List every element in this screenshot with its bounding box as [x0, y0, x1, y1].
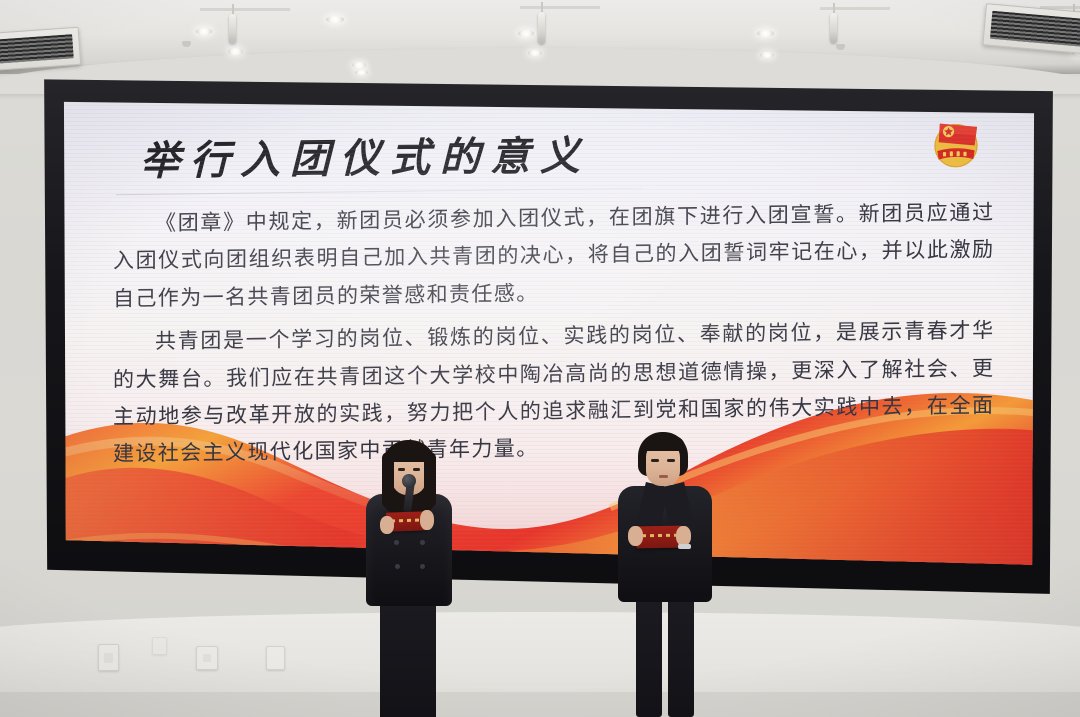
communist-youth-league-emblem	[925, 111, 987, 174]
mouth	[659, 475, 668, 478]
photo-scene: 举行入团仪式的意义 《团章》中规定，新团员必须参加入团仪式，在团旗下进行入团宣誓…	[0, 0, 1080, 717]
host-female-skirt	[380, 588, 436, 717]
microphone-head	[402, 474, 416, 488]
led-display: 举行入团仪式的意义 《团章》中规定，新团员必须参加入团仪式，在团旗下进行入团宣誓…	[38, 74, 1058, 610]
blazer-button	[395, 564, 400, 569]
recessed-downlight	[528, 50, 542, 56]
track-spotlight	[538, 12, 545, 44]
wall-plate-small	[152, 637, 167, 655]
host-male-hand-right	[676, 526, 691, 546]
host-male-trouser-right	[668, 590, 694, 717]
slide-paragraph-2: 共青团是一个学习的岗位、锻炼的岗位、实践的岗位、奉献的岗位，是展示青春才华的大舞…	[113, 312, 994, 473]
eye	[651, 459, 659, 462]
slide-paragraph-1: 《团章》中规定，新团员必须参加入团仪式，在团旗下进行入团宣誓。新团员应通过入团仪…	[113, 194, 994, 318]
host-female-hand-right	[420, 510, 434, 530]
host-male	[606, 430, 724, 717]
eye	[413, 468, 420, 471]
eye	[398, 468, 405, 471]
recessed-downlight	[228, 48, 243, 55]
wall-outlet-plate	[98, 644, 119, 671]
presentation-slide: 举行入团仪式的意义 《团章》中规定，新团员必须参加入团仪式，在团旗下进行入团宣誓…	[62, 94, 1036, 587]
recessed-downlight	[352, 62, 366, 68]
blazer-button	[420, 540, 425, 545]
blazer-button	[420, 564, 425, 569]
blazer-button	[394, 540, 399, 545]
blank-wall-plate	[266, 646, 285, 670]
light-switch-plate	[196, 646, 218, 670]
slide-title: 举行入团仪式的意义	[140, 123, 590, 186]
eye	[667, 459, 675, 462]
host-male-fringe	[642, 436, 685, 451]
host-female-fringe	[389, 446, 429, 462]
recessed-downlight	[326, 16, 344, 23]
recessed-downlight	[518, 30, 534, 37]
light-track	[200, 8, 290, 11]
host-male-hand-left	[628, 526, 643, 546]
slide-body: 《团章》中规定，新团员必须参加入团仪式，在团旗下进行入团宣誓。新团员应通过入团仪…	[113, 194, 994, 479]
track-spotlight	[229, 14, 236, 44]
host-female-hair-side	[382, 452, 394, 508]
ac-vent-left	[0, 27, 81, 71]
recessed-downlight	[760, 52, 774, 58]
recessed-downlight	[196, 28, 212, 35]
host-female-hair-side	[424, 452, 436, 508]
recessed-downlight	[757, 30, 774, 37]
host-male-trouser-left	[636, 590, 662, 717]
host-female-hand-left	[380, 516, 394, 534]
host-female	[352, 436, 467, 717]
screen-surface: 举行入团仪式的意义 《团章》中规定，新团员必须参加入团仪式，在团旗下进行入团宣誓…	[62, 94, 1036, 587]
light-track	[520, 6, 600, 9]
light-track	[820, 7, 890, 10]
wristwatch	[678, 544, 691, 549]
title-rule	[116, 187, 642, 194]
track-spotlight	[830, 13, 837, 43]
